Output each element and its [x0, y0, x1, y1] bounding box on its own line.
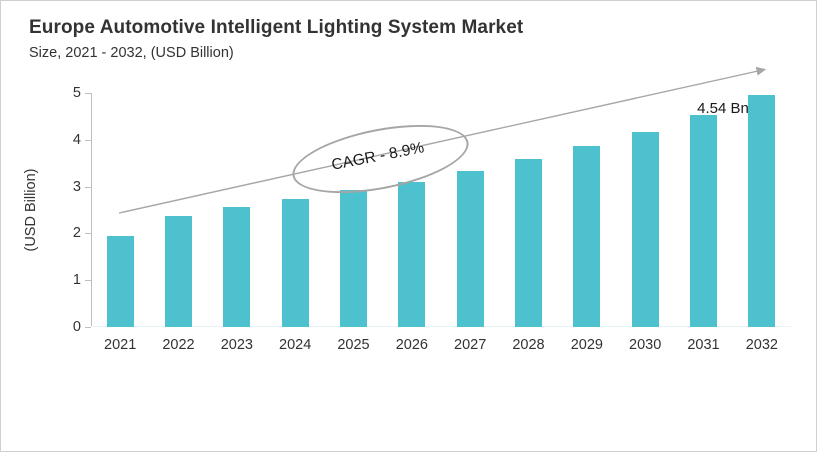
y-axis-tick-label: 5 [73, 85, 81, 101]
y-axis-tick-label: 2 [73, 225, 81, 241]
bar[interactable] [690, 115, 717, 327]
bar[interactable] [632, 132, 659, 327]
bar[interactable] [515, 159, 542, 327]
x-axis-tick-label: 2026 [396, 337, 428, 353]
x-axis-tick-label: 2025 [337, 337, 369, 353]
bar[interactable] [748, 95, 775, 327]
bar[interactable] [223, 207, 250, 327]
y-axis-tick-mark [85, 233, 91, 234]
bar[interactable] [398, 182, 425, 327]
bar[interactable] [107, 236, 134, 327]
y-axis-tick-mark [85, 140, 91, 141]
chart-subtitle: Size, 2021 - 2032, (USD Billion) [29, 45, 234, 61]
y-axis-tick-mark [85, 327, 91, 328]
y-axis-tick-mark [85, 93, 91, 94]
x-axis-tick-label: 2024 [279, 337, 311, 353]
x-axis-tick-label: 2021 [104, 337, 136, 353]
x-axis-tick-label: 2029 [571, 337, 603, 353]
x-axis-tick-label: 2030 [629, 337, 661, 353]
y-axis-tick-mark [85, 187, 91, 188]
bar[interactable] [165, 216, 192, 327]
data-value-label: 4.54 Bn [697, 100, 749, 117]
bar[interactable] [573, 146, 600, 327]
chart-figure: Europe Automotive Intelligent Lighting S… [0, 0, 817, 452]
x-axis-tick-label: 2027 [454, 337, 486, 353]
x-axis-tick-label: 2031 [687, 337, 719, 353]
y-axis-tick-label: 4 [73, 132, 81, 148]
y-axis-tick-label: 1 [73, 272, 81, 288]
x-axis-tick-label: 2022 [162, 337, 194, 353]
x-axis-tick-label: 2028 [512, 337, 544, 353]
y-axis-tick-label: 3 [73, 179, 81, 195]
bar[interactable] [282, 199, 309, 327]
y-axis-tick-label: 0 [73, 319, 81, 335]
bar[interactable] [457, 171, 484, 327]
chart-title: Europe Automotive Intelligent Lighting S… [29, 17, 523, 39]
x-axis-tick-label: 2023 [221, 337, 253, 353]
bar[interactable] [340, 190, 367, 327]
y-axis-title: (USD Billion) [23, 169, 39, 252]
x-axis-tick-label: 2032 [746, 337, 778, 353]
y-axis-tick-mark [85, 280, 91, 281]
